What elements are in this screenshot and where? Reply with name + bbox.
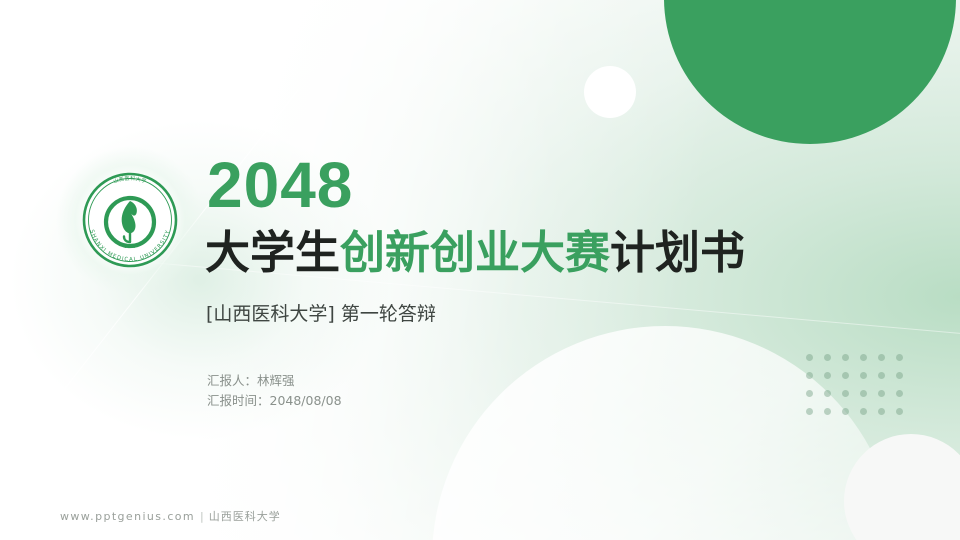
shanxi-medical-university-seal-icon: 山西医科大学 SHANXI MEDICAL UNIVERSITY 1919 <box>80 170 180 270</box>
subtitle: [山西医科大学] 第一轮答辩 <box>206 302 436 326</box>
svg-text:1919: 1919 <box>124 244 136 250</box>
footer: www.pptgenius.com|山西医科大学 <box>60 510 281 524</box>
year-title: 2048 <box>207 153 353 217</box>
footer-website[interactable]: www.pptgenius.com <box>60 510 195 523</box>
university-logo: 山西医科大学 SHANXI MEDICAL UNIVERSITY 1919 <box>72 162 188 278</box>
decorative-dot-grid <box>806 354 914 426</box>
footer-separator: | <box>200 510 204 523</box>
main-headline: 大学生创新创业大赛计划书 <box>205 228 745 278</box>
headline-part-2: 创新创业大赛 <box>340 226 610 279</box>
presenter-line: 汇报人：林辉强 <box>207 371 342 391</box>
date-line: 汇报时间：2048/08/08 <box>207 391 342 411</box>
presentation-meta: 汇报人：林辉强 汇报时间：2048/08/08 <box>207 371 342 411</box>
decorative-white-dot <box>584 66 636 118</box>
presentation-cover-slide: 山西医科大学 SHANXI MEDICAL UNIVERSITY 1919 20… <box>0 0 960 540</box>
headline-part-1: 大学生 <box>205 226 340 279</box>
footer-organization: 山西医科大学 <box>209 510 281 523</box>
headline-part-3: 计划书 <box>610 226 745 279</box>
